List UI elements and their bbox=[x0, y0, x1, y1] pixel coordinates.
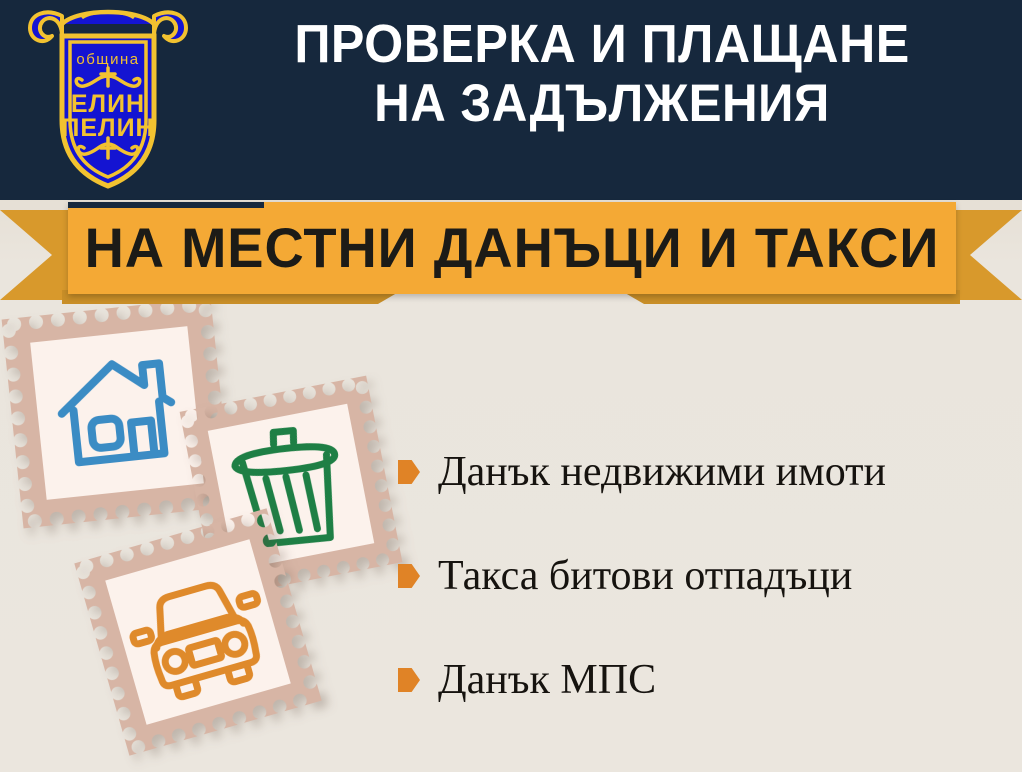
ribbon-label: НА МЕСТНИ ДАНЪЦИ И ТАКСИ bbox=[81, 202, 942, 294]
stamp-collage bbox=[0, 300, 420, 770]
logo-text-pelin: ПЕЛИН bbox=[61, 114, 154, 142]
page-title: ПРОВЕРКА И ПЛАЩАНЕ НА ЗАДЪЛЖЕНИЯ bbox=[196, 14, 1008, 134]
list-item[interactable]: Такса битови отпадъци bbox=[398, 524, 1008, 628]
list-item[interactable]: Данък МПС bbox=[398, 628, 1008, 732]
ribbon-band: НА МЕСТНИ ДАНЪЦИ И ТАКСИ bbox=[68, 202, 956, 294]
title-line-1: ПРОВЕРКА И ПЛАЩАНЕ bbox=[224, 14, 979, 74]
header-banner: община ЕЛИН ПЕЛИН ПРОВЕРКА И ПЛАЩАНЕ НА … bbox=[0, 0, 1022, 200]
logo-text-obshtina: община bbox=[76, 51, 139, 68]
list-item-label: Данък МПС bbox=[438, 657, 656, 703]
list-item-label: Такса битови отпадъци bbox=[438, 553, 852, 599]
list-item-label: Данък недвижими имоти bbox=[438, 449, 886, 495]
arrow-bullet-icon bbox=[398, 564, 420, 588]
poster-canvas: община ЕЛИН ПЕЛИН ПРОВЕРКА И ПЛАЩАНЕ НА … bbox=[0, 0, 1022, 772]
title-line-2: НА ЗАДЪЛЖЕНИЯ bbox=[224, 74, 979, 134]
tax-type-list: Данък недвижими имоти Такса битови отпад… bbox=[398, 420, 1008, 732]
list-item[interactable]: Данък недвижими имоти bbox=[398, 420, 1008, 524]
arrow-bullet-icon bbox=[398, 460, 420, 484]
municipality-logo: община ЕЛИН ПЕЛИН bbox=[22, 8, 194, 193]
arrow-bullet-icon bbox=[398, 668, 420, 692]
subtitle-ribbon: НА МЕСТНИ ДАНЪЦИ И ТАКСИ bbox=[0, 198, 1022, 306]
